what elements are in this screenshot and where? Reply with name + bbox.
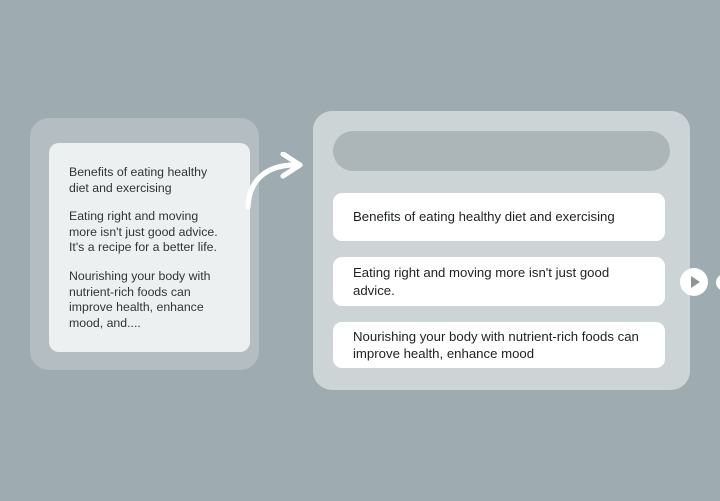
- curved-arrow-right-icon: [243, 152, 309, 212]
- transcript-segment-card[interactable]: Benefits of eating healthy diet and exer…: [333, 193, 665, 241]
- source-paragraph: Eating right and moving more isn't just …: [69, 209, 229, 256]
- transcript-segment-text: Nourishing your body with nutrient-rich …: [353, 328, 645, 363]
- source-paragraph: Nourishing your body with nutrient-rich …: [69, 269, 229, 331]
- transcript-segment-card[interactable]: Nourishing your body with nutrient-rich …: [333, 322, 665, 368]
- source-document-text: Benefits of eating healthy diet and exer…: [69, 165, 229, 331]
- audio-player-bar[interactable]: [333, 131, 670, 171]
- transcript-segment-text: Eating right and moving more isn't just …: [353, 264, 645, 299]
- source-paragraph: Benefits of eating healthy diet and exer…: [69, 165, 229, 196]
- play-triangle-icon: [691, 276, 700, 288]
- transcript-segment-card[interactable]: Eating right and moving more isn't just …: [333, 257, 665, 306]
- progress-bar-fill: [716, 274, 720, 291]
- play-button[interactable]: [680, 268, 708, 296]
- progress-bar-track[interactable]: [716, 274, 720, 291]
- transcript-segment-text: Benefits of eating healthy diet and exer…: [353, 208, 615, 226]
- illustration-canvas: Benefits of eating healthy diet and exer…: [0, 0, 720, 501]
